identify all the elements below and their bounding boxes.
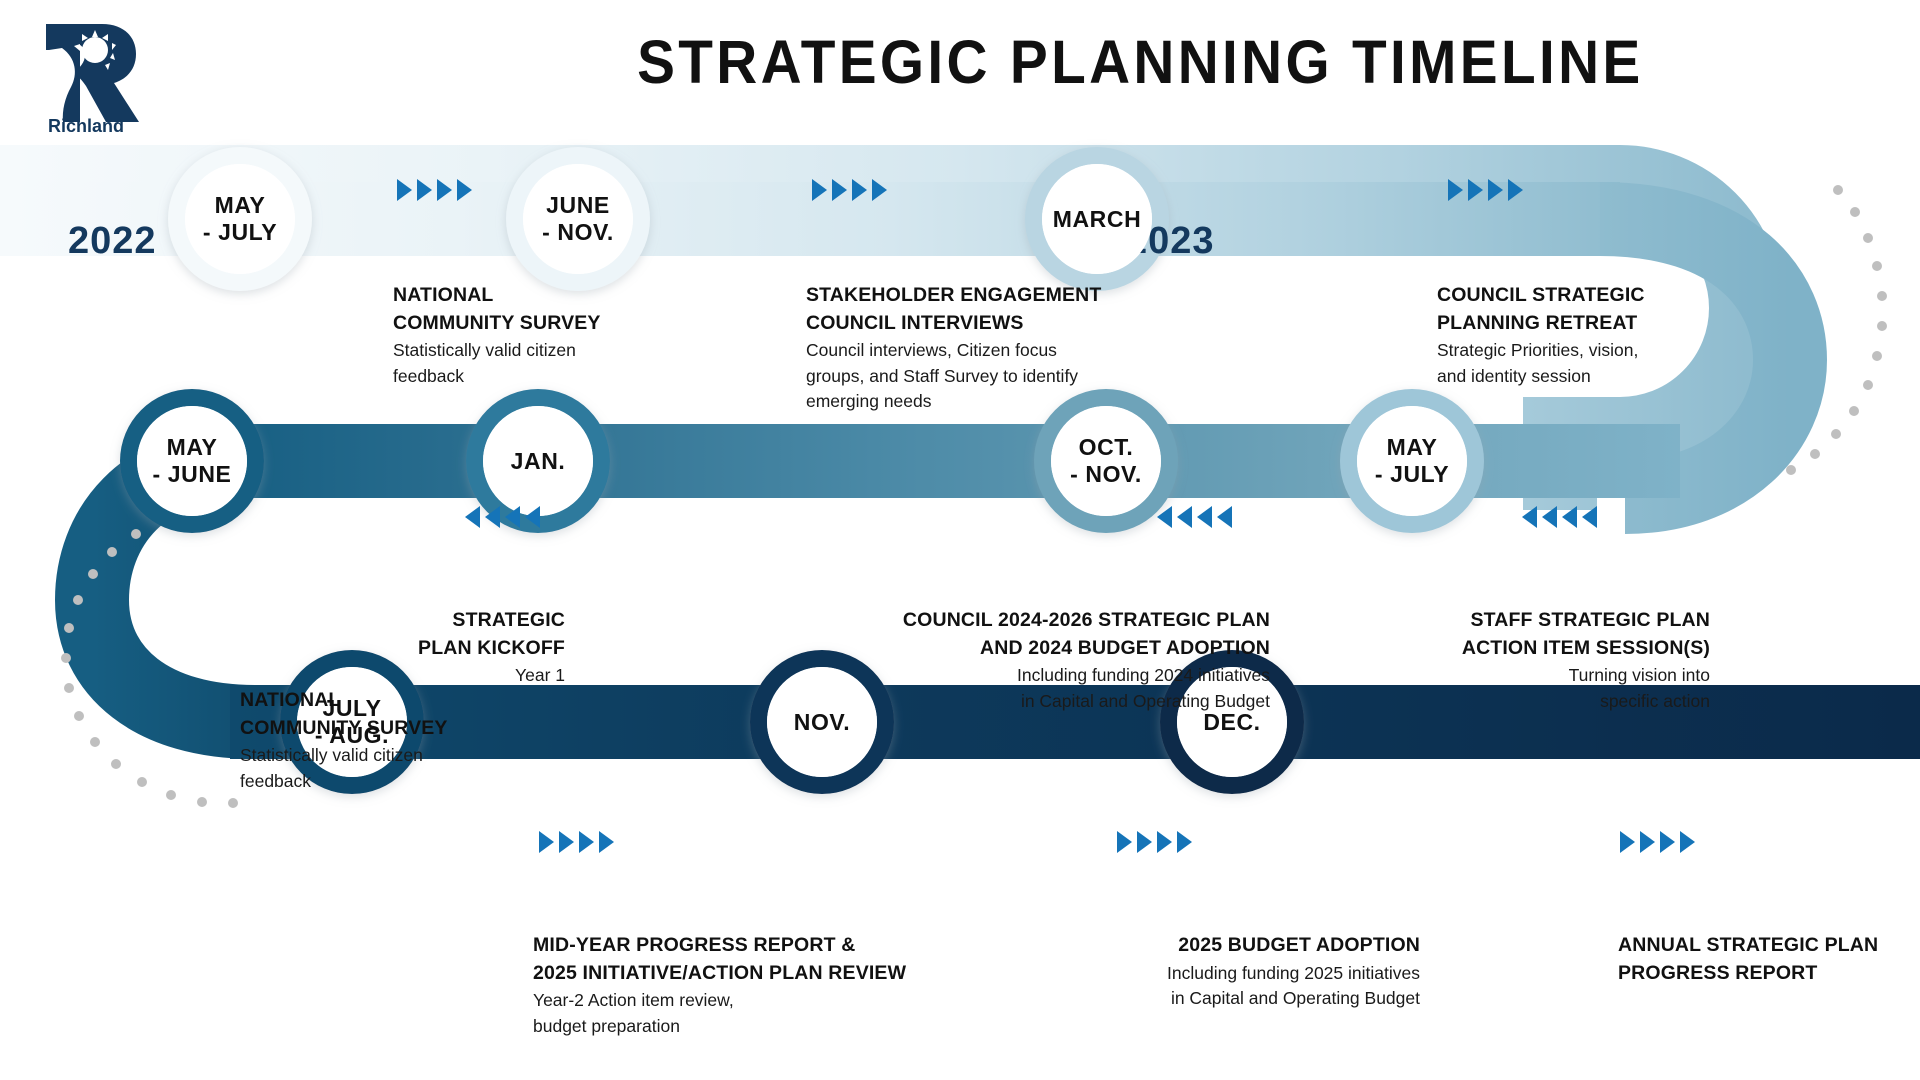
- caption-sub-line2: in Capital and Operating Budget: [1000, 986, 1420, 1011]
- arrow-group-9: [1620, 831, 1695, 853]
- caption-sub-line2: groups, and Staff Survey to identify: [806, 364, 1156, 389]
- caption-heading-line2: COMMUNITY SURVEY: [240, 715, 540, 743]
- node-month-line1: OCT.: [1079, 434, 1134, 461]
- caption-jan-2024: STRATEGIC PLAN KICKOFF Year 1: [400, 607, 565, 688]
- caption-sub-line1: Including funding 2025 initiatives: [1000, 961, 1420, 986]
- caption-heading-line2: AND 2024 BUDGET ADOPTION: [860, 635, 1270, 663]
- caption-nov-2025: 2025 BUDGET ADOPTION Including funding 2…: [1000, 932, 1420, 1011]
- node-month-line1: MARCH: [1053, 206, 1142, 233]
- node-month-line2: - JUNE: [152, 461, 231, 488]
- arrow-group-4: [1522, 506, 1597, 528]
- caption-sub-line2: and identity session: [1437, 364, 1747, 389]
- caption-heading-line1: COUNCIL 2024-2026 STRATEGIC PLAN: [860, 607, 1270, 635]
- milestone-node-may-june-2024[interactable]: MAY - JUNE: [137, 406, 247, 516]
- node-month-line2: - NOV.: [1070, 461, 1142, 488]
- caption-sub-line1: Statistically valid citizen: [393, 338, 683, 363]
- caption-sub-line3: emerging needs: [806, 389, 1156, 414]
- milestone-node-june-nov-2022[interactable]: JUNE - NOV.: [523, 164, 633, 274]
- caption-heading-line1: MID-YEAR PROGRESS REPORT &: [533, 932, 953, 960]
- caption-sub-line2: feedback: [393, 364, 683, 389]
- caption-march-2023: COUNCIL STRATEGIC PLANNING RETREAT Strat…: [1437, 282, 1747, 388]
- caption-heading-line2: COMMUNITY SURVEY: [393, 310, 683, 338]
- node-month-line1: MAY: [215, 192, 266, 219]
- node-month-line2: - JULY: [203, 219, 277, 246]
- caption-may-june-2024: NATIONAL COMMUNITY SURVEY Statistically …: [240, 687, 540, 793]
- caption-sub-line2: in Capital and Operating Budget: [860, 689, 1270, 714]
- caption-july-aug-2025: MID-YEAR PROGRESS REPORT & 2025 INITIATI…: [533, 932, 953, 1038]
- node-month-line2: - JULY: [1375, 461, 1449, 488]
- arrow-group-6: [465, 506, 540, 528]
- arrow-group-5: [1157, 506, 1232, 528]
- milestone-node-may-july-2023[interactable]: MAY - JULY: [1357, 406, 1467, 516]
- year-label-2024: 2024: [778, 549, 867, 587]
- node-month-line1: JUNE: [546, 192, 610, 219]
- caption-may-july-2023: STAFF STRATEGIC PLAN ACTION ITEM SESSION…: [1430, 607, 1710, 713]
- arrow-group-1: [397, 179, 472, 201]
- year-label-2022: 2022: [68, 222, 157, 260]
- caption-sub-line1: Year-2 Action item review,: [533, 988, 953, 1013]
- milestone-node-may-july-2022[interactable]: MAY - JULY: [185, 164, 295, 274]
- milestone-node-jan-2024[interactable]: JAN.: [483, 406, 593, 516]
- timeline-track: [0, 0, 1920, 1080]
- node-month-line1: JAN.: [511, 448, 566, 475]
- caption-heading-line2: COUNCIL INTERVIEWS: [806, 310, 1156, 338]
- caption-june-nov-2022: STAKEHOLDER ENGAGEMENT COUNCIL INTERVIEW…: [806, 282, 1156, 414]
- milestone-node-march-2023[interactable]: MARCH: [1042, 164, 1152, 274]
- arrow-group-7: [539, 831, 614, 853]
- caption-heading-line1: STRATEGIC: [400, 607, 565, 635]
- node-month-line1: MAY: [1387, 434, 1438, 461]
- caption-sub-line1: Turning vision into: [1430, 663, 1710, 688]
- caption-heading-line1: STAKEHOLDER ENGAGEMENT: [806, 282, 1156, 310]
- caption-heading-line2: ACTION ITEM SESSION(S): [1430, 635, 1710, 663]
- caption-heading-line1: COUNCIL STRATEGIC: [1437, 282, 1747, 310]
- arrow-group-3: [1448, 179, 1523, 201]
- caption-heading-line1: ANNUAL STRATEGIC PLAN: [1618, 932, 1918, 960]
- caption-oct-nov-2023: COUNCIL 2024-2026 STRATEGIC PLAN AND 202…: [860, 607, 1270, 713]
- caption-heading-line2: PLANNING RETREAT: [1437, 310, 1747, 338]
- timeline-infographic: Richland STRATEGIC PLANNING TIMELINE: [0, 0, 1920, 1080]
- caption-sub-line1: Year 1: [400, 663, 565, 688]
- milestone-node-oct-nov-2023[interactable]: OCT. - NOV.: [1051, 406, 1161, 516]
- caption-heading-line2: PLAN KICKOFF: [400, 635, 565, 663]
- caption-may-july-2022: NATIONAL COMMUNITY SURVEY Statistically …: [393, 282, 683, 388]
- node-month-line2: - NOV.: [542, 219, 614, 246]
- arrow-group-8: [1117, 831, 1192, 853]
- caption-heading-line1: STAFF STRATEGIC PLAN: [1430, 607, 1710, 635]
- arrow-group-2: [812, 179, 887, 201]
- caption-sub-line1: Statistically valid citizen: [240, 743, 540, 768]
- caption-heading-line2: PROGRESS REPORT: [1618, 960, 1918, 988]
- caption-sub-line1: Including funding 2024 initiatives: [860, 663, 1270, 688]
- caption-sub-line2: specific action: [1430, 689, 1710, 714]
- caption-sub-line1: Strategic Priorities, vision,: [1437, 338, 1747, 363]
- caption-heading-line1: NATIONAL: [240, 687, 540, 715]
- node-month-line1: MAY: [167, 434, 218, 461]
- caption-sub-line2: budget preparation: [533, 1014, 953, 1039]
- caption-sub-line1: Council interviews, Citizen focus: [806, 338, 1156, 363]
- caption-heading-line1: 2025 BUDGET ADOPTION: [1000, 932, 1420, 960]
- caption-sub-line2: feedback: [240, 769, 540, 794]
- caption-heading-line2: 2025 INITIATIVE/ACTION PLAN REVIEW: [533, 960, 953, 988]
- caption-dec-2025: ANNUAL STRATEGIC PLAN PROGRESS REPORT: [1618, 932, 1918, 987]
- node-month-line1: NOV.: [794, 709, 851, 736]
- caption-heading-line1: NATIONAL: [393, 282, 683, 310]
